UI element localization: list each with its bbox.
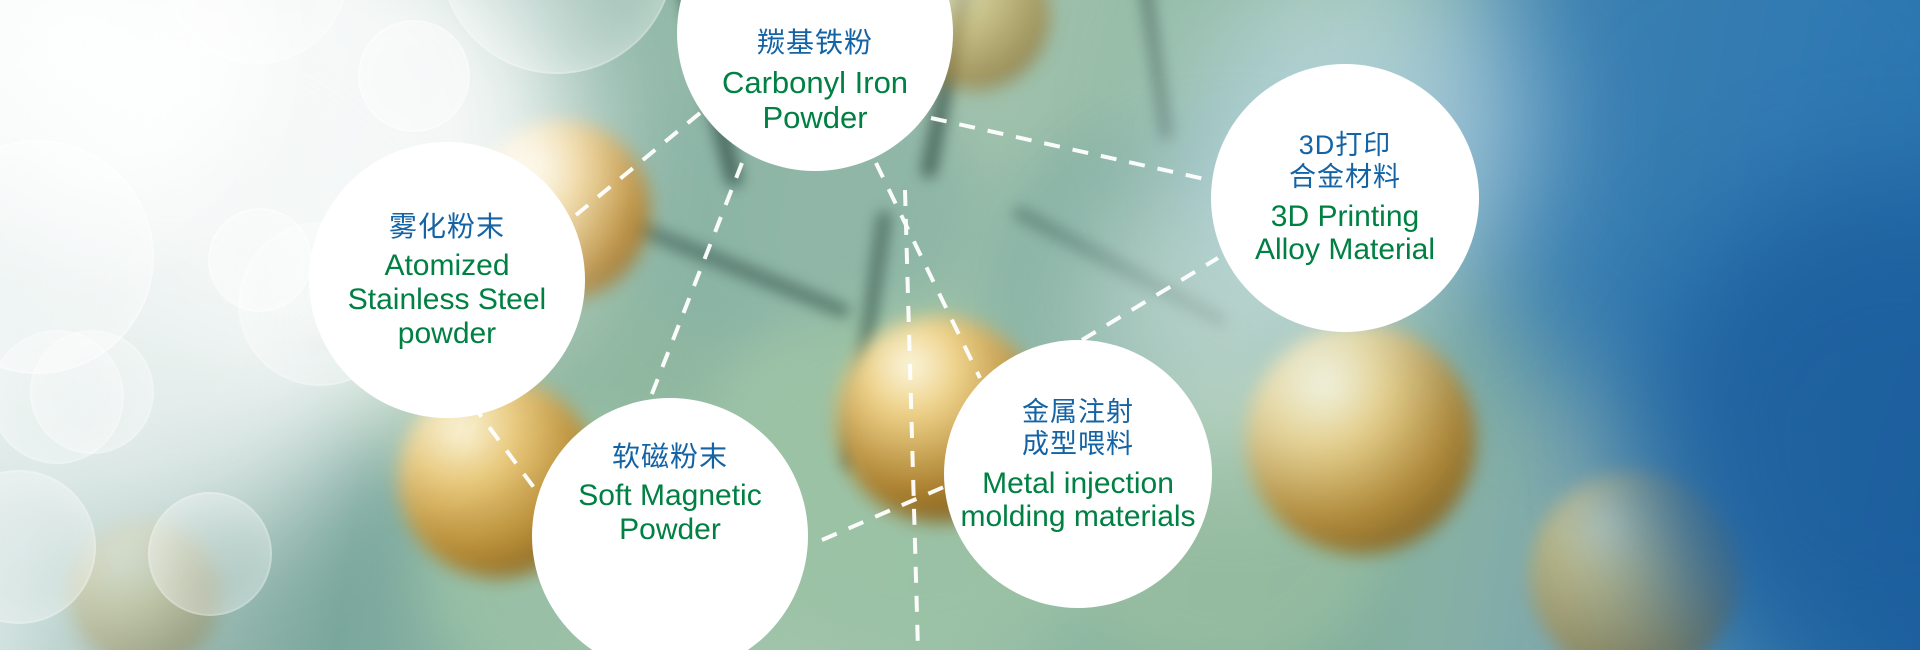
connector-carbonyl-atomized: [576, 113, 700, 215]
node-metal-injection-molding-materials[interactable]: 金属注射 成型喂料 Metal injection molding materi…: [944, 340, 1212, 608]
connector-carbonyl-mim: [876, 163, 980, 378]
node-label-en: Atomized Stainless Steel powder: [348, 249, 546, 350]
connector-mim-3dprint: [1082, 258, 1218, 340]
connector-softmagnetic-mim: [822, 486, 946, 540]
connector-lines: [0, 0, 1920, 650]
node-label-cn: 3D打印 合金材料: [1289, 129, 1401, 194]
node-label-cn: 羰基铁粉: [757, 26, 873, 60]
node-label-cn: 雾化粉末: [389, 210, 505, 244]
node-label-en: 3D Printing Alloy Material: [1255, 200, 1435, 267]
node-atomized-stainless-steel-powder[interactable]: 雾化粉末 Atomized Stainless Steel powder: [309, 142, 585, 418]
node-label-en: Metal injection molding materials: [960, 467, 1195, 534]
node-label-cn: 金属注射 成型喂料: [1022, 396, 1134, 461]
connector-carbonyl-softmagnetic: [648, 163, 742, 404]
banner-stage: 羰基铁粉 Carbonyl Iron Powder 雾化粉末 Atomized …: [0, 0, 1920, 650]
connector-carbonyl-3dprint: [931, 118, 1218, 182]
node-3d-printing-alloy-material[interactable]: 3D打印 合金材料 3D Printing Alloy Material: [1211, 64, 1479, 332]
node-label-en: Carbonyl Iron Powder: [722, 66, 908, 135]
node-label-cn: 软磁粉末: [612, 440, 728, 474]
node-label-en: Soft Magnetic Powder: [578, 479, 761, 546]
connector-softmagnetic-bottom: [905, 190, 918, 650]
